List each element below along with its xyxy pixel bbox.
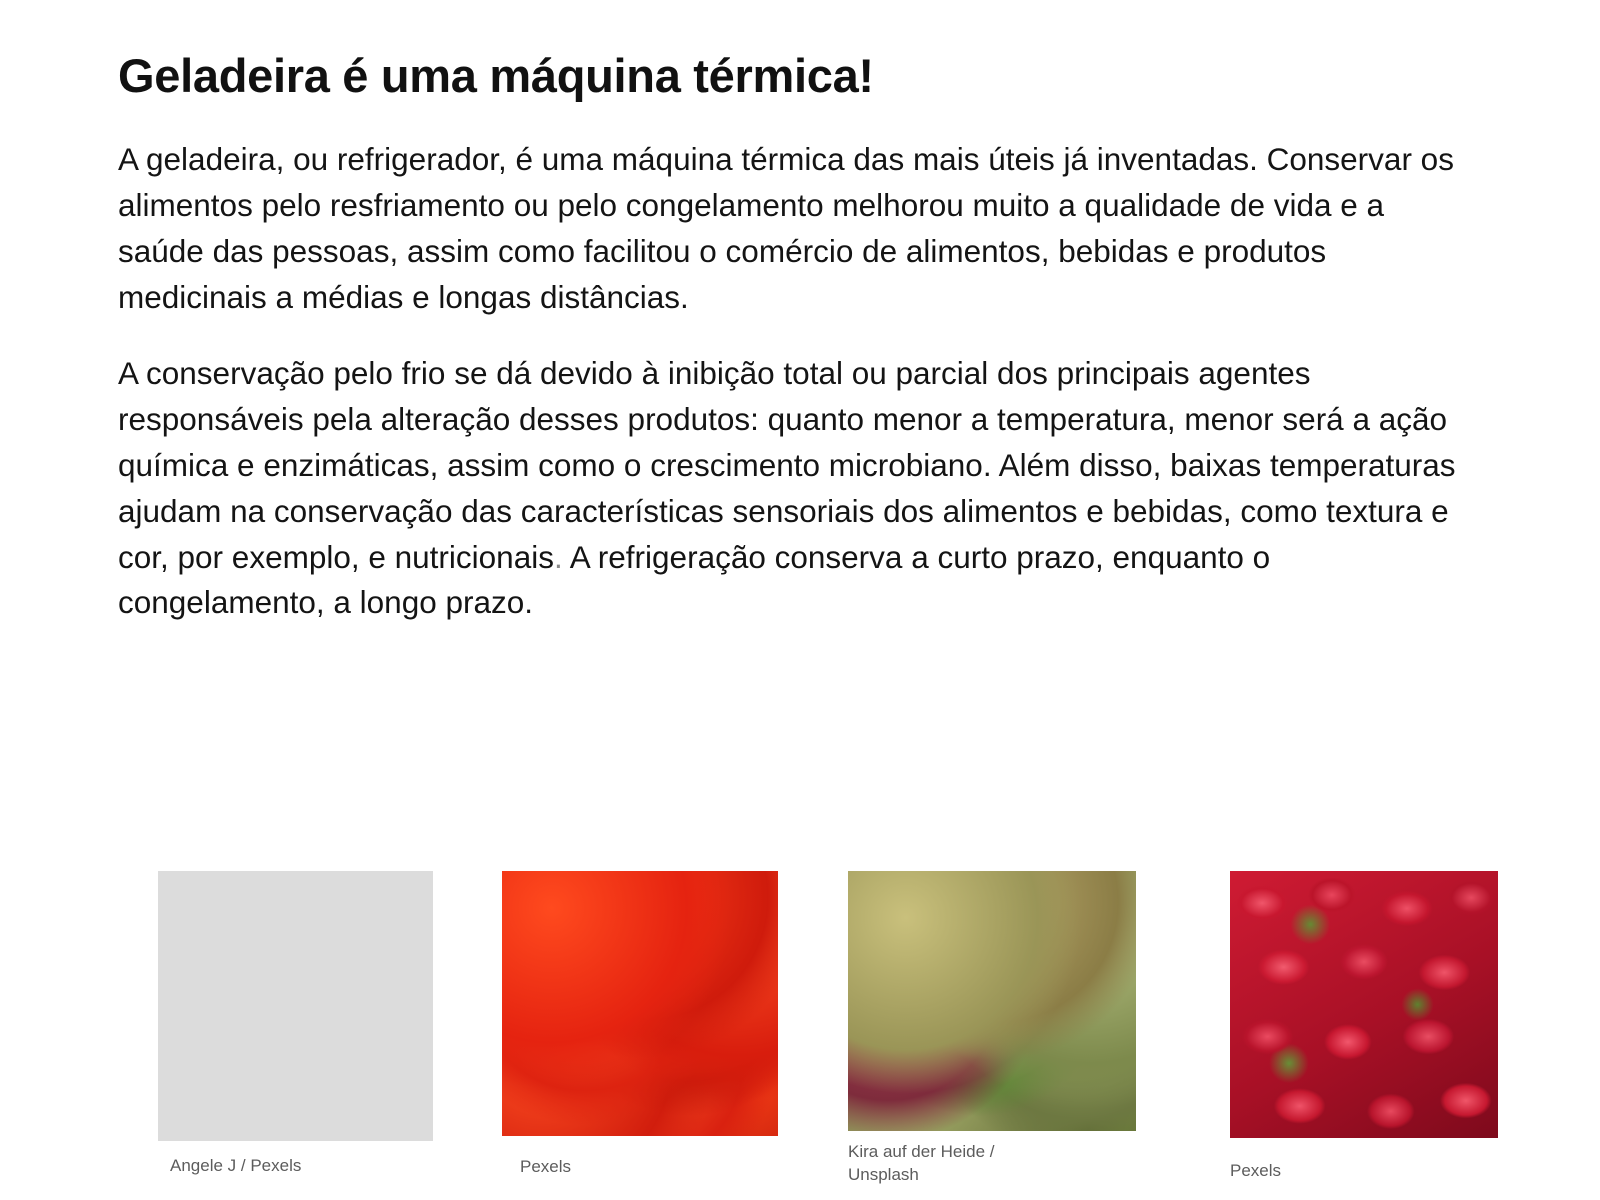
strawberries-photo — [1230, 871, 1498, 1138]
zucchini-photo — [158, 871, 433, 1141]
image-gallery-strip: Angele J / Pexels Pexels Kira auf der He… — [0, 855, 1600, 1185]
body-paragraph-2: A conservação pelo frio se dá devido à i… — [118, 351, 1458, 627]
figure-tomatoes: Pexels — [502, 871, 778, 1179]
tomatoes-photo — [502, 871, 778, 1136]
figure-caption-pears: Kira auf der Heide / Unsplash — [848, 1141, 1028, 1187]
page-title: Geladeira é uma máquina térmica! — [118, 50, 1458, 103]
figure-zucchini: Angele J / Pexels — [158, 871, 433, 1178]
slide-page: Geladeira é uma máquina térmica! A gelad… — [0, 0, 1600, 1200]
figure-caption-zucchini: Angele J / Pexels — [170, 1155, 420, 1178]
figure-strawberries: Pexels — [1230, 871, 1498, 1183]
muted-period-mark: . — [554, 539, 563, 575]
figure-caption-strawberries: Pexels — [1230, 1160, 1480, 1183]
figure-pears: Kira auf der Heide / Unsplash — [848, 871, 1136, 1187]
article-content: Geladeira é uma máquina térmica! A gelad… — [118, 50, 1458, 626]
pears-photo — [848, 871, 1136, 1131]
body-paragraph-1: A geladeira, ou refrigerador, é uma máqu… — [118, 137, 1458, 321]
figure-caption-tomatoes: Pexels — [520, 1156, 770, 1179]
